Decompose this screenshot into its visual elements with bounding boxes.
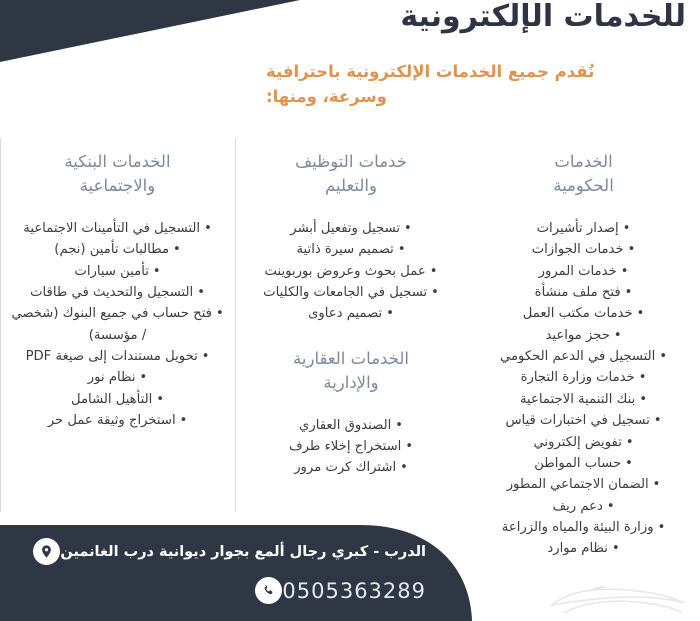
list-item: مطالبات تأمين (نجم) bbox=[10, 239, 225, 260]
list-employment-services: تسجيل وتفعيل أبشر تصميم سيرة ذاتية عمل ب… bbox=[245, 218, 457, 325]
subtitle-line-1: نُقدم جميع الخدمات الإلكترونية باحترافية bbox=[266, 62, 594, 81]
column-employment-title: خدمات التوظيف والتعليم bbox=[245, 150, 457, 198]
list-government-services: إصدار تأشيرات خدمات الجوازات خدمات المرو… bbox=[477, 218, 690, 560]
list-item: خدمات وزارة التجارة bbox=[477, 367, 690, 388]
list-item: التأهيل الشامل bbox=[10, 389, 225, 410]
list-item: خدمات مكتب العمل bbox=[477, 303, 690, 324]
list-item: نظام موارد bbox=[477, 538, 690, 559]
list-item: فتح حساب في جميع البنوك (شخصي / مؤسسة) bbox=[10, 303, 225, 346]
column-employment-title-line1: خدمات التوظيف bbox=[295, 152, 407, 171]
subtitle-line-2: وسرعة، ومنها: bbox=[266, 85, 686, 110]
column-banking-title: الخدمات البنكية والاجتماعية bbox=[10, 150, 225, 198]
list-item: دعم ريف bbox=[477, 496, 690, 517]
column-realestate-title-line2: والإدارية bbox=[323, 373, 378, 392]
list-item: تسجيل في الجامعات والكليات bbox=[245, 282, 457, 303]
column-realestate-title: الخدمات العقارية والإدارية bbox=[245, 347, 457, 395]
location-pin-icon bbox=[33, 538, 60, 565]
contact-address-row: الدرب - كبري رجال ألمع بجوار ديوانية درب… bbox=[22, 538, 426, 565]
list-item: عمل بحوث وعروض بوربوينت bbox=[245, 261, 457, 282]
list-item: استخراج وثيقة عمل حر bbox=[10, 410, 225, 431]
services-columns: الخدمات الحكومية إصدار تأشيرات خدمات الج… bbox=[0, 136, 700, 528]
footer-content: الدرب - كبري رجال ألمع بجوار ديوانية درب… bbox=[0, 525, 440, 621]
contact-phone-row[interactable]: 0505363289 bbox=[244, 577, 426, 604]
list-item: التسجيل في الدعم الحكومي bbox=[477, 346, 690, 367]
list-realestate-services: الصندوق العقاري استخراج إخلاء طرف اشتراك… bbox=[245, 415, 457, 479]
list-item: اشتراك كرت مرور bbox=[245, 457, 457, 478]
column-employment-title-line2: والتعليم bbox=[325, 176, 377, 195]
list-item: إصدار تأشيرات bbox=[477, 218, 690, 239]
column-government-title: الخدمات الحكومية bbox=[477, 150, 690, 198]
column-banking-social: الخدمات البنكية والاجتماعية التسجيل في ا… bbox=[0, 136, 235, 528]
column-realestate-title-line1: الخدمات العقارية bbox=[293, 349, 409, 368]
list-item: الصندوق العقاري bbox=[245, 415, 457, 436]
list-item: التسجيل في التأمينات الاجتماعية bbox=[10, 218, 225, 239]
list-item: وزارة البيئة والمياه والزراعة bbox=[477, 517, 690, 538]
list-item: استخراج إخلاء طرف bbox=[245, 436, 457, 457]
list-item: تسجيل في اختبارات قياس bbox=[477, 410, 690, 431]
watermark-logo-icon bbox=[542, 577, 692, 619]
phone-icon bbox=[255, 577, 282, 604]
poster-header: للخدمات الإلكترونية نُقدم جميع الخدمات ا… bbox=[0, 0, 700, 128]
contact-phone-number: 0505363289 bbox=[282, 579, 426, 603]
list-item: بنك التنمية الاجتماعية bbox=[477, 389, 690, 410]
contact-address-text: الدرب - كبري رجال ألمع بجوار ديوانية درب… bbox=[60, 544, 426, 560]
list-item: حساب المواطن bbox=[477, 453, 690, 474]
page-title: للخدمات الإلكترونية bbox=[400, 0, 686, 36]
column-employment-education: خدمات التوظيف والتعليم تسجيل وتفعيل أبشر… bbox=[235, 136, 467, 528]
list-item: تسجيل وتفعيل أبشر bbox=[245, 218, 457, 239]
list-item: التسجيل والتحديث في طاقات bbox=[10, 282, 225, 303]
column-banking-title-line2: والاجتماعية bbox=[80, 176, 155, 195]
page-subtitle: نُقدم جميع الخدمات الإلكترونية باحترافية… bbox=[266, 60, 686, 110]
list-item: تأمين سيارات bbox=[10, 261, 225, 282]
list-item: تحويل مستندات إلى صيغة PDF bbox=[10, 346, 225, 367]
poster-root: للخدمات الإلكترونية نُقدم جميع الخدمات ا… bbox=[0, 0, 700, 621]
list-item: نظام نور bbox=[10, 367, 225, 388]
column-banking-title-line1: الخدمات البنكية bbox=[64, 152, 170, 171]
list-item: تصميم دعاوى bbox=[245, 303, 457, 324]
list-item: خدمات الجوازات bbox=[477, 239, 690, 260]
list-item: فتح ملف منشأة bbox=[477, 282, 690, 303]
list-banking-services: التسجيل في التأمينات الاجتماعية مطالبات … bbox=[10, 218, 225, 432]
list-item: خدمات المرور bbox=[477, 261, 690, 282]
list-item: تصميم سيرة ذاتية bbox=[245, 239, 457, 260]
list-item: الضمان الاجتماعي المطور bbox=[477, 474, 690, 495]
list-item: حجز مواعيد bbox=[477, 325, 690, 346]
column-government-services: الخدمات الحكومية إصدار تأشيرات خدمات الج… bbox=[467, 136, 700, 528]
list-item: تفويض إلكتروني bbox=[477, 432, 690, 453]
column-government-title-line1: الخدمات bbox=[554, 152, 612, 171]
column-government-title-line2: الحكومية bbox=[553, 176, 614, 195]
